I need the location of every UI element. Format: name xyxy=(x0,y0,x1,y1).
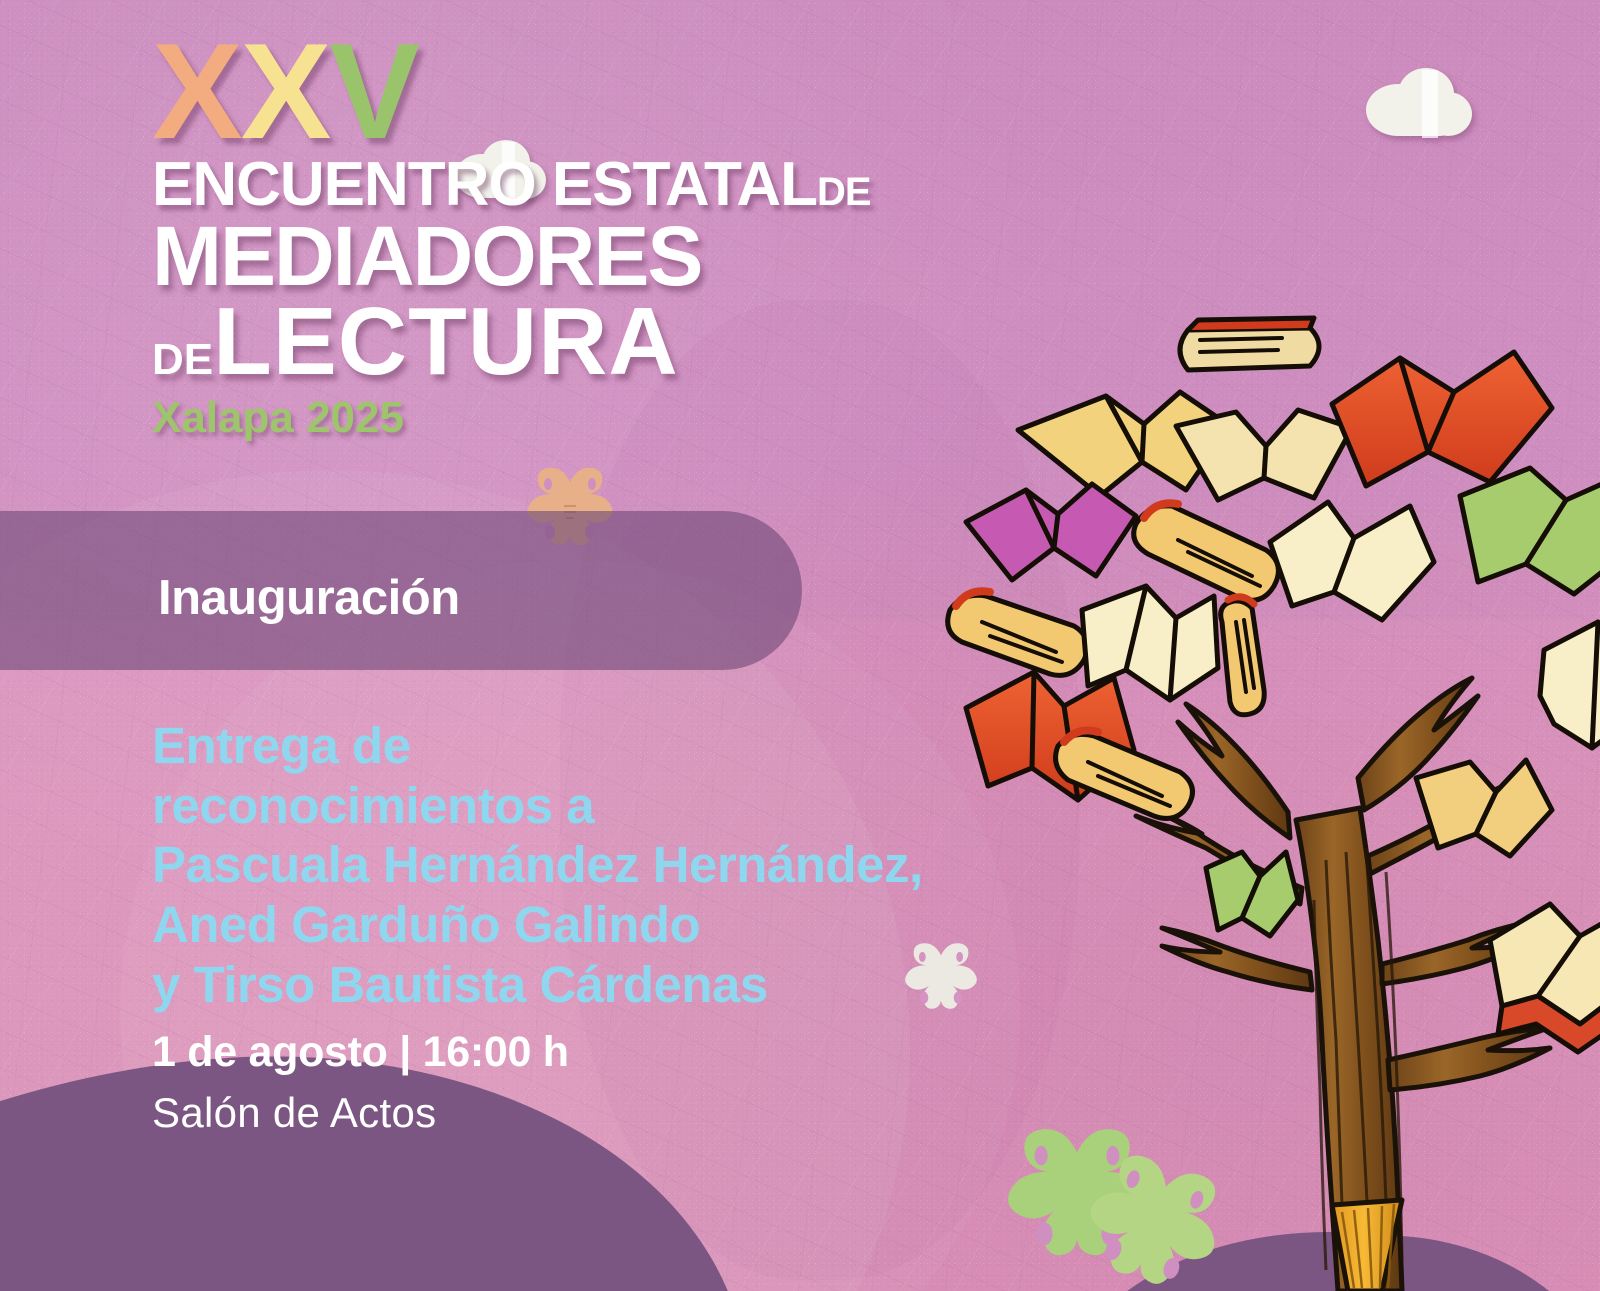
title-line-encuentro: ENCUENTRO ESTATALDE xyxy=(152,154,872,216)
inauguracion-label: Inauguración xyxy=(158,570,460,626)
book-open-magenta xyxy=(966,484,1136,580)
book-open-cream-center xyxy=(1176,410,1352,500)
poster-title-block: XXV ENCUENTRO ESTATALDE MEDIADORES DELEC… xyxy=(152,34,872,440)
book-green-small-lower xyxy=(1206,852,1298,936)
event-venue: Salón de Actos xyxy=(152,1089,1162,1137)
book-closed-red-top xyxy=(1180,318,1319,370)
book-open-green-right xyxy=(1460,468,1600,594)
event-date-time: 1 de agosto | 16:00 h xyxy=(152,1028,1162,1077)
title-lectura: LECTURA xyxy=(213,288,679,395)
book-open-cream-right xyxy=(1270,502,1434,620)
title-line-mediadores: MEDIADORES xyxy=(152,214,872,298)
cloud-icon-top-right xyxy=(1362,64,1474,147)
event-details: Entrega de reconocimientos a Pascuala He… xyxy=(152,716,1162,1137)
edition-numeral: XXV xyxy=(152,34,872,148)
title-de-small-2: DE xyxy=(152,335,213,384)
book-rolled-left xyxy=(948,591,1088,675)
book-open-yellow-right-lower xyxy=(1416,760,1552,856)
book-rolled-small-trunk xyxy=(1221,597,1265,715)
book-open-red-top-right xyxy=(1332,352,1552,486)
title-de-small-1: DE xyxy=(817,170,871,214)
book-rolled-center xyxy=(1134,503,1279,600)
numeral-v: V xyxy=(329,34,418,148)
numeral-x-1: X xyxy=(152,34,241,148)
title-location-year: Xalapa 2025 xyxy=(152,396,872,440)
title-line-lectura: DELECTURA xyxy=(152,294,872,390)
numeral-x-2: X xyxy=(241,34,330,148)
event-headline: Entrega de reconocimientos a Pascuala He… xyxy=(152,716,1162,1014)
book-open-cream-far-right xyxy=(1540,622,1600,748)
poster-canvas: XXV ENCUENTRO ESTATALDE MEDIADORES DELEC… xyxy=(0,0,1600,1291)
